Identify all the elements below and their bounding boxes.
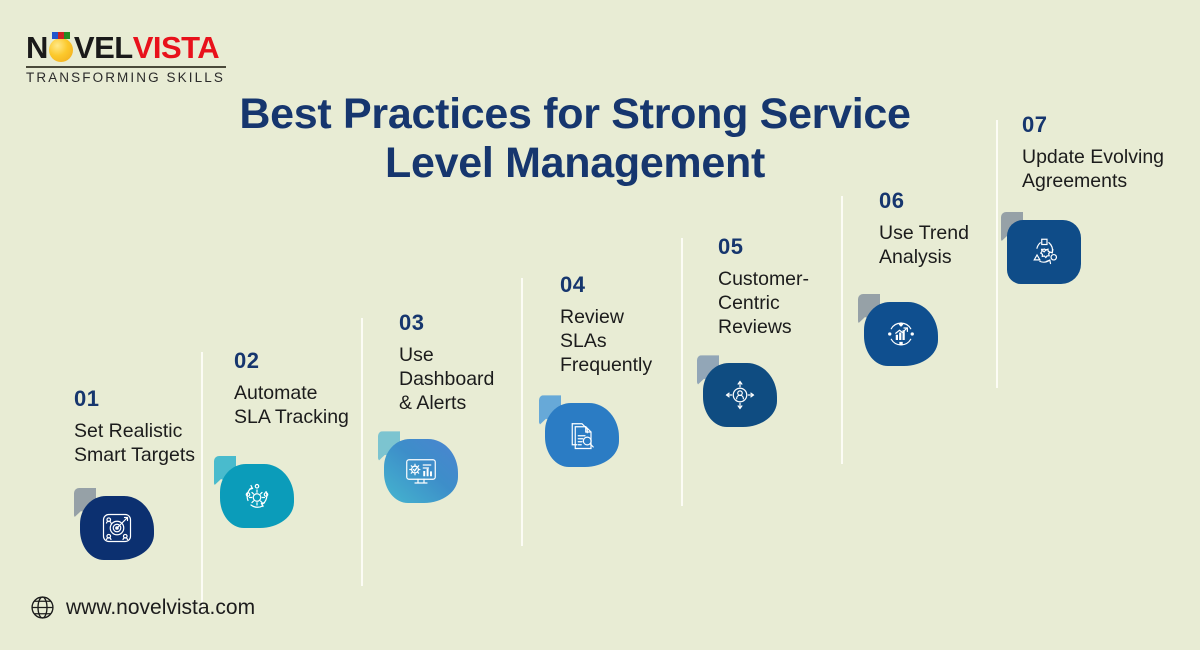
footer-url[interactable]: www.novelvista.com: [66, 596, 255, 620]
badge-blob: [545, 403, 619, 467]
step-badge[interactable]: [378, 429, 458, 503]
step-number: 02: [234, 348, 364, 374]
badge-blob: [220, 464, 294, 528]
badge-blob: [80, 496, 154, 560]
page-title: Best Practices for Strong Service Level …: [180, 90, 970, 189]
step-number: 01: [74, 386, 199, 412]
separator-line-4: [681, 238, 683, 506]
globe-icon: [30, 595, 55, 620]
step-badge[interactable]: [539, 393, 619, 467]
step-label: Review SLAs Frequently: [560, 306, 680, 377]
step-label: Customer- Centric Reviews: [718, 268, 843, 339]
step-badge[interactable]: [858, 292, 938, 366]
footer: www.novelvista.com: [30, 595, 255, 620]
document-search-icon: [564, 417, 600, 453]
step-label: Update Evolving Agreements: [1022, 146, 1192, 194]
page-title-line2: Level Management: [180, 139, 970, 188]
step-item-01[interactable]: 01 Set Realistic Smart Targets: [74, 386, 199, 560]
separator-line-1: [201, 352, 203, 614]
logo-tagline: TRANSFORMING SKILLS: [26, 70, 226, 85]
step-number: 05: [718, 234, 843, 260]
step-number: 07: [1022, 112, 1192, 138]
step-item-06[interactable]: 06 Use Trend Analysis: [879, 188, 999, 366]
step-item-04[interactable]: 04 Review SLAs Frequently: [560, 272, 680, 467]
step-number: 03: [399, 310, 521, 336]
step-number: 06: [879, 188, 999, 214]
logo-text-n: N: [26, 32, 48, 63]
step-item-05[interactable]: 05 Customer- Centric Reviews: [718, 234, 843, 427]
trend-chart-icon: [883, 316, 919, 352]
step-item-02[interactable]: 02 Automate SLA Tracking: [234, 348, 364, 528]
badge-blob: [864, 302, 938, 366]
separator-line-3: [521, 278, 523, 546]
badge-blob: [1007, 220, 1081, 284]
step-badge[interactable]: [1001, 210, 1081, 284]
step-item-07[interactable]: 07 Update Evolving Agreements: [1022, 112, 1192, 284]
step-label: Use Trend Analysis: [879, 222, 999, 270]
step-badge[interactable]: [214, 454, 294, 528]
step-item-03[interactable]: 03 Use Dashboard & Alerts: [399, 310, 521, 503]
page-title-line1: Best Practices for Strong Service: [180, 90, 970, 139]
logo-text-vista: VISTA: [133, 32, 220, 63]
customer-target-icon: [722, 377, 758, 413]
logo-wordmark: N VEL VISTA: [26, 32, 226, 63]
badge-blob: [384, 439, 458, 503]
dashboard-monitor-icon: [403, 453, 439, 489]
step-label: Automate SLA Tracking: [234, 382, 364, 430]
badge-blob: [703, 363, 777, 427]
automation-gear-icon: [239, 478, 275, 514]
step-label: Set Realistic Smart Targets: [74, 420, 199, 468]
step-badge[interactable]: [74, 486, 154, 560]
brand-logo: N VEL VISTA TRANSFORMING SKILLS: [26, 32, 226, 85]
step-badge[interactable]: [697, 353, 777, 427]
step-label: Use Dashboard & Alerts: [399, 344, 521, 415]
update-cycle-icon: [1026, 234, 1062, 270]
logo-sun-icon: [48, 32, 74, 63]
step-number: 04: [560, 272, 680, 298]
logo-text-vel: VEL: [74, 32, 133, 63]
target-audience-icon: [99, 510, 135, 546]
logo-divider: [26, 66, 226, 68]
